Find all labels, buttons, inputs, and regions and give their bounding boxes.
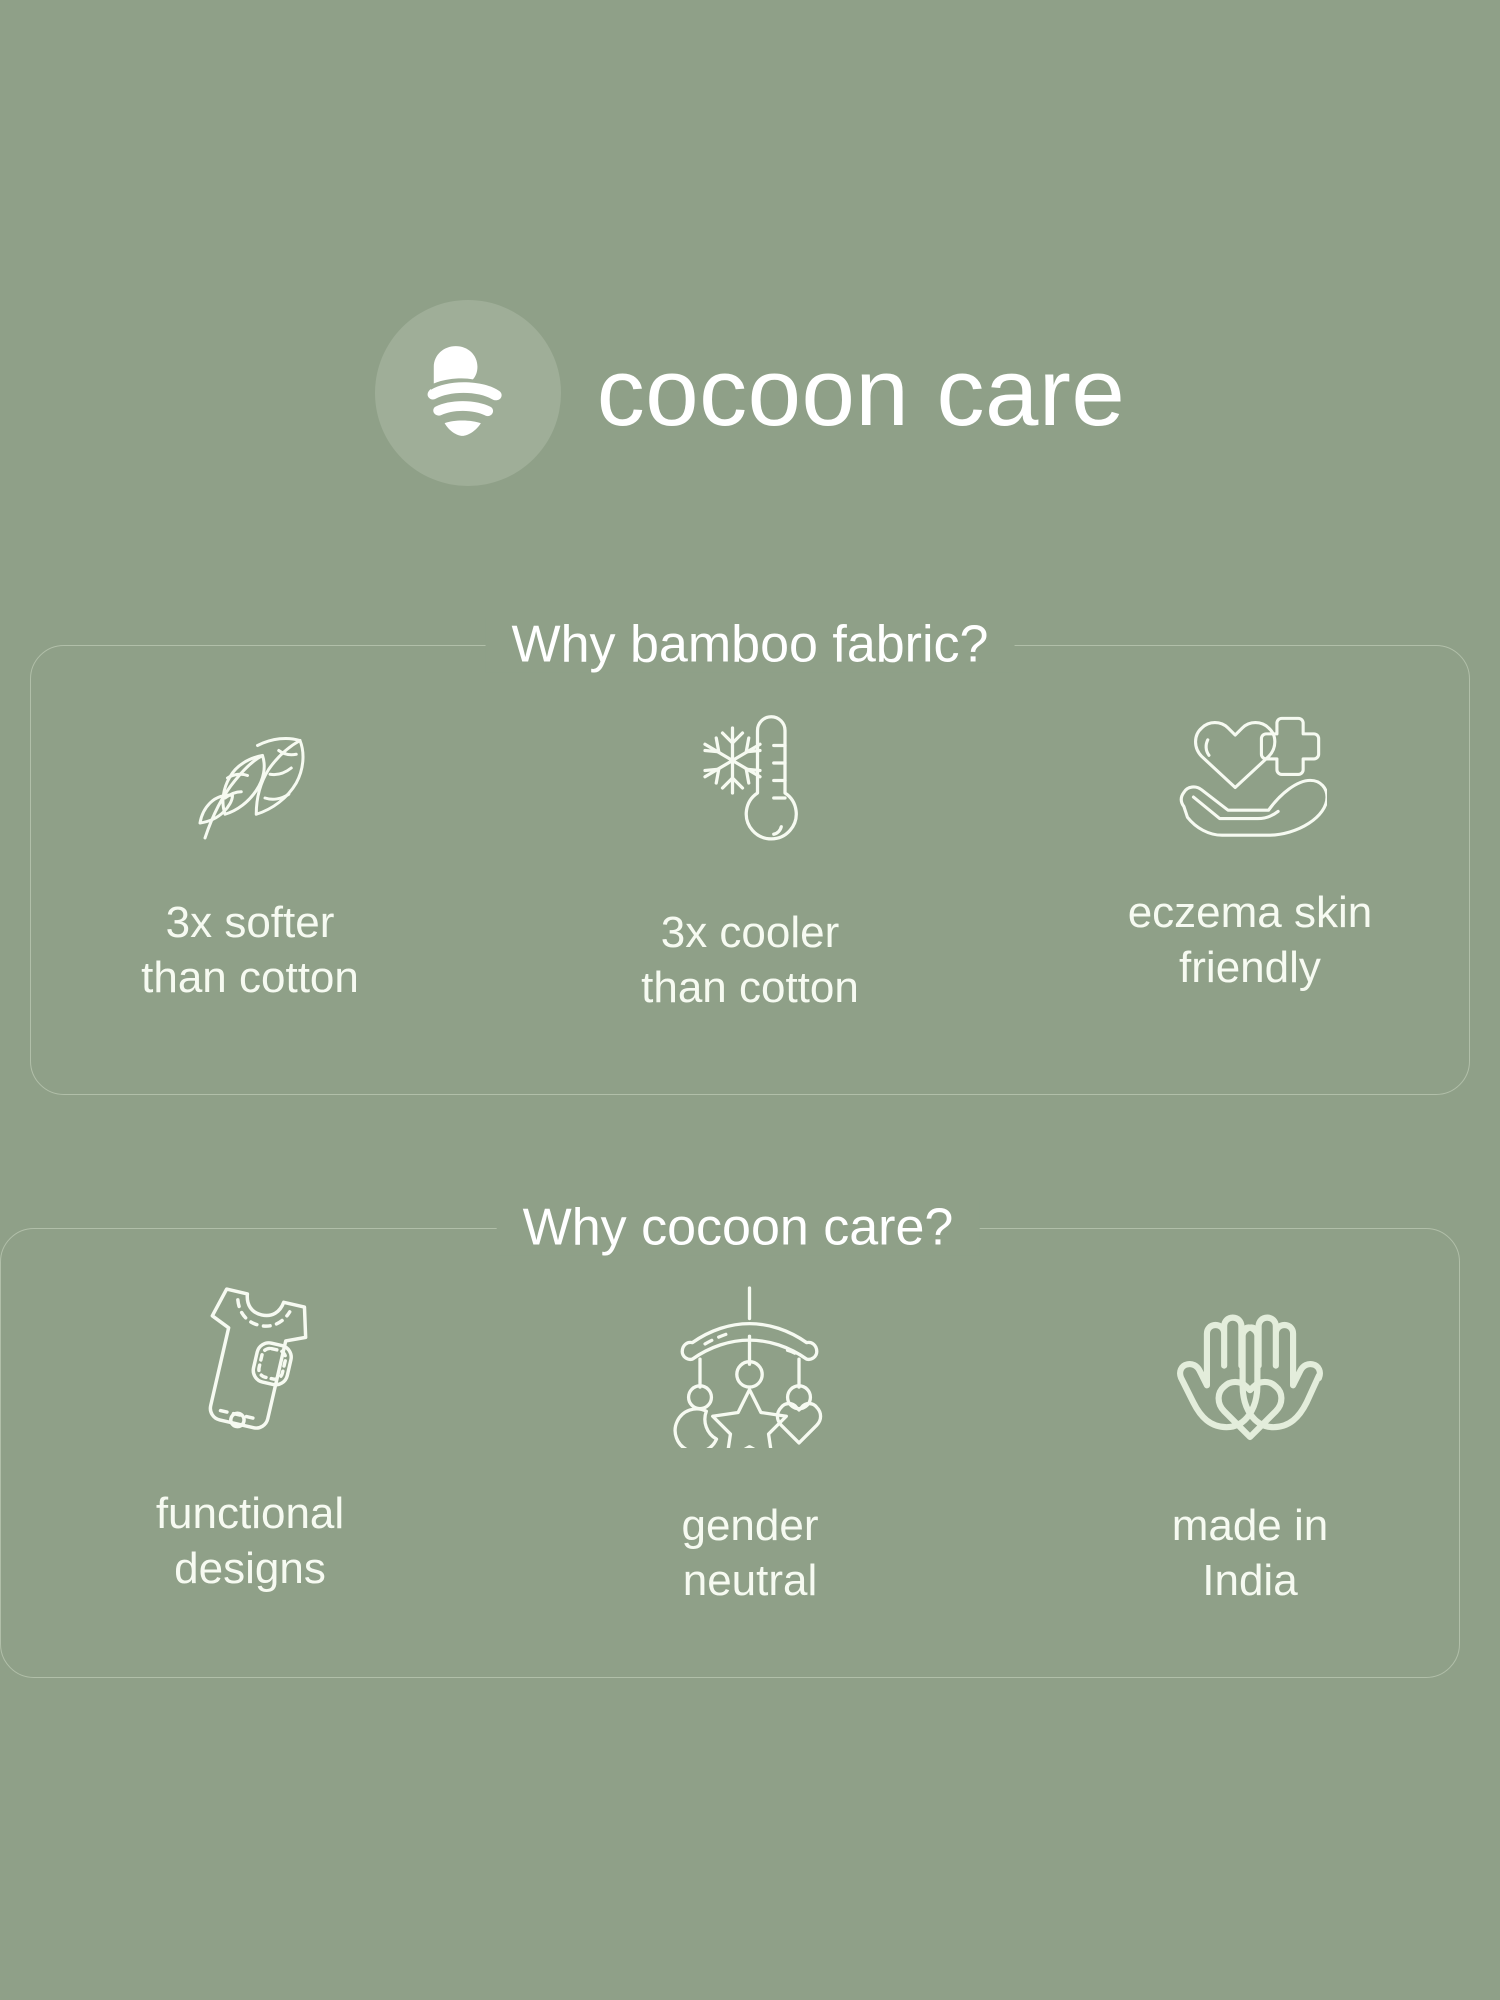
feature-softer: 3x softer than cotton — [0, 693, 500, 1006]
feature-gender-neutral: gender neutral — [500, 1278, 1000, 1609]
feature-label-functional-designs: functional designs — [156, 1486, 344, 1597]
cocoon-feature-list: functional designs — [0, 1278, 1500, 1609]
thermometer-snowflake-icon — [675, 693, 825, 853]
feature-made-in-india: made in India — [1000, 1278, 1500, 1609]
baby-onesie-icon — [170, 1278, 330, 1448]
feathers-icon — [175, 693, 325, 853]
section-why-cocoon-care: Why cocoon care? — [0, 1228, 1500, 1688]
feature-label-eczema: eczema skin friendly — [1128, 885, 1373, 996]
hands-heart-icon — [1170, 1278, 1330, 1448]
heart-cross-hand-icon — [1172, 693, 1327, 853]
brand-header: cocoon care — [0, 300, 1500, 486]
promo-page: cocoon care Why bamboo fabric? — [0, 0, 1500, 2000]
feature-label-cooler: 3x cooler than cotton — [641, 905, 859, 1016]
section-title-bamboo: Why bamboo fabric? — [486, 618, 1015, 673]
feature-label-made-in-india: made in India — [1172, 1498, 1329, 1609]
feature-functional-designs: functional designs — [0, 1278, 500, 1597]
feature-label-gender-neutral: gender neutral — [681, 1498, 818, 1609]
baby-mobile-icon — [667, 1278, 832, 1448]
cocoon-leaf-mark-icon — [409, 332, 527, 455]
section-why-bamboo-fabric: Why bamboo fabric? — [0, 645, 1500, 1105]
brand-logo — [375, 300, 561, 486]
feature-label-softer: 3x softer than cotton — [141, 895, 359, 1006]
feature-cooler: 3x cooler than cotton — [500, 693, 1000, 1016]
bamboo-feature-list: 3x softer than cotton — [0, 693, 1500, 1016]
brand-name: cocoon care — [597, 345, 1125, 441]
feature-eczema: eczema skin friendly — [1000, 693, 1500, 996]
section-title-cocoon: Why cocoon care? — [497, 1201, 980, 1256]
